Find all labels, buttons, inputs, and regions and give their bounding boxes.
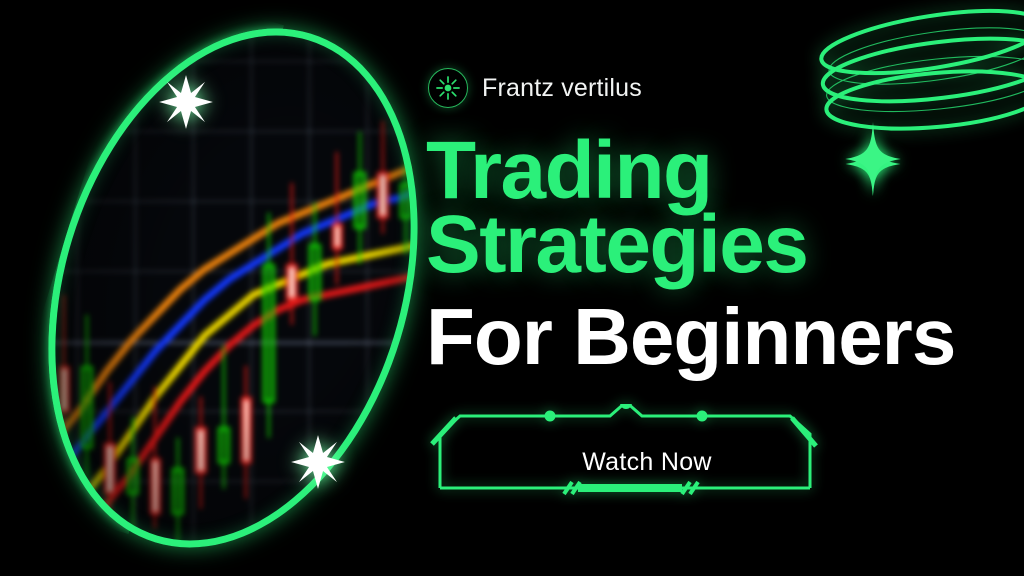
author-name: Frantz vertilus xyxy=(482,74,642,103)
byline: Frantz vertilus xyxy=(428,68,642,108)
candle-body xyxy=(13,345,25,392)
candlestick xyxy=(36,0,48,576)
candle-body xyxy=(36,345,48,412)
headline-line-3: For Beginners xyxy=(426,300,955,374)
green-helix-swirl xyxy=(800,8,1024,158)
candle-wick xyxy=(18,274,20,458)
headline-line-1: Trading xyxy=(426,133,712,208)
eight-point-star-icon xyxy=(158,74,214,130)
watch-now-button[interactable]: Watch Now xyxy=(430,404,864,508)
four-point-sparkle-icon xyxy=(845,122,901,196)
media-oval-frame xyxy=(58,22,408,554)
watch-now-label: Watch Now xyxy=(430,448,864,477)
eight-point-star-icon xyxy=(290,434,346,490)
thumbnail-canvas: Frantz vertilus Trading Strategies For B… xyxy=(0,0,1024,576)
starburst-badge-icon xyxy=(428,68,468,108)
headline-line-2: Strategies xyxy=(426,207,808,282)
candlestick xyxy=(13,0,25,576)
